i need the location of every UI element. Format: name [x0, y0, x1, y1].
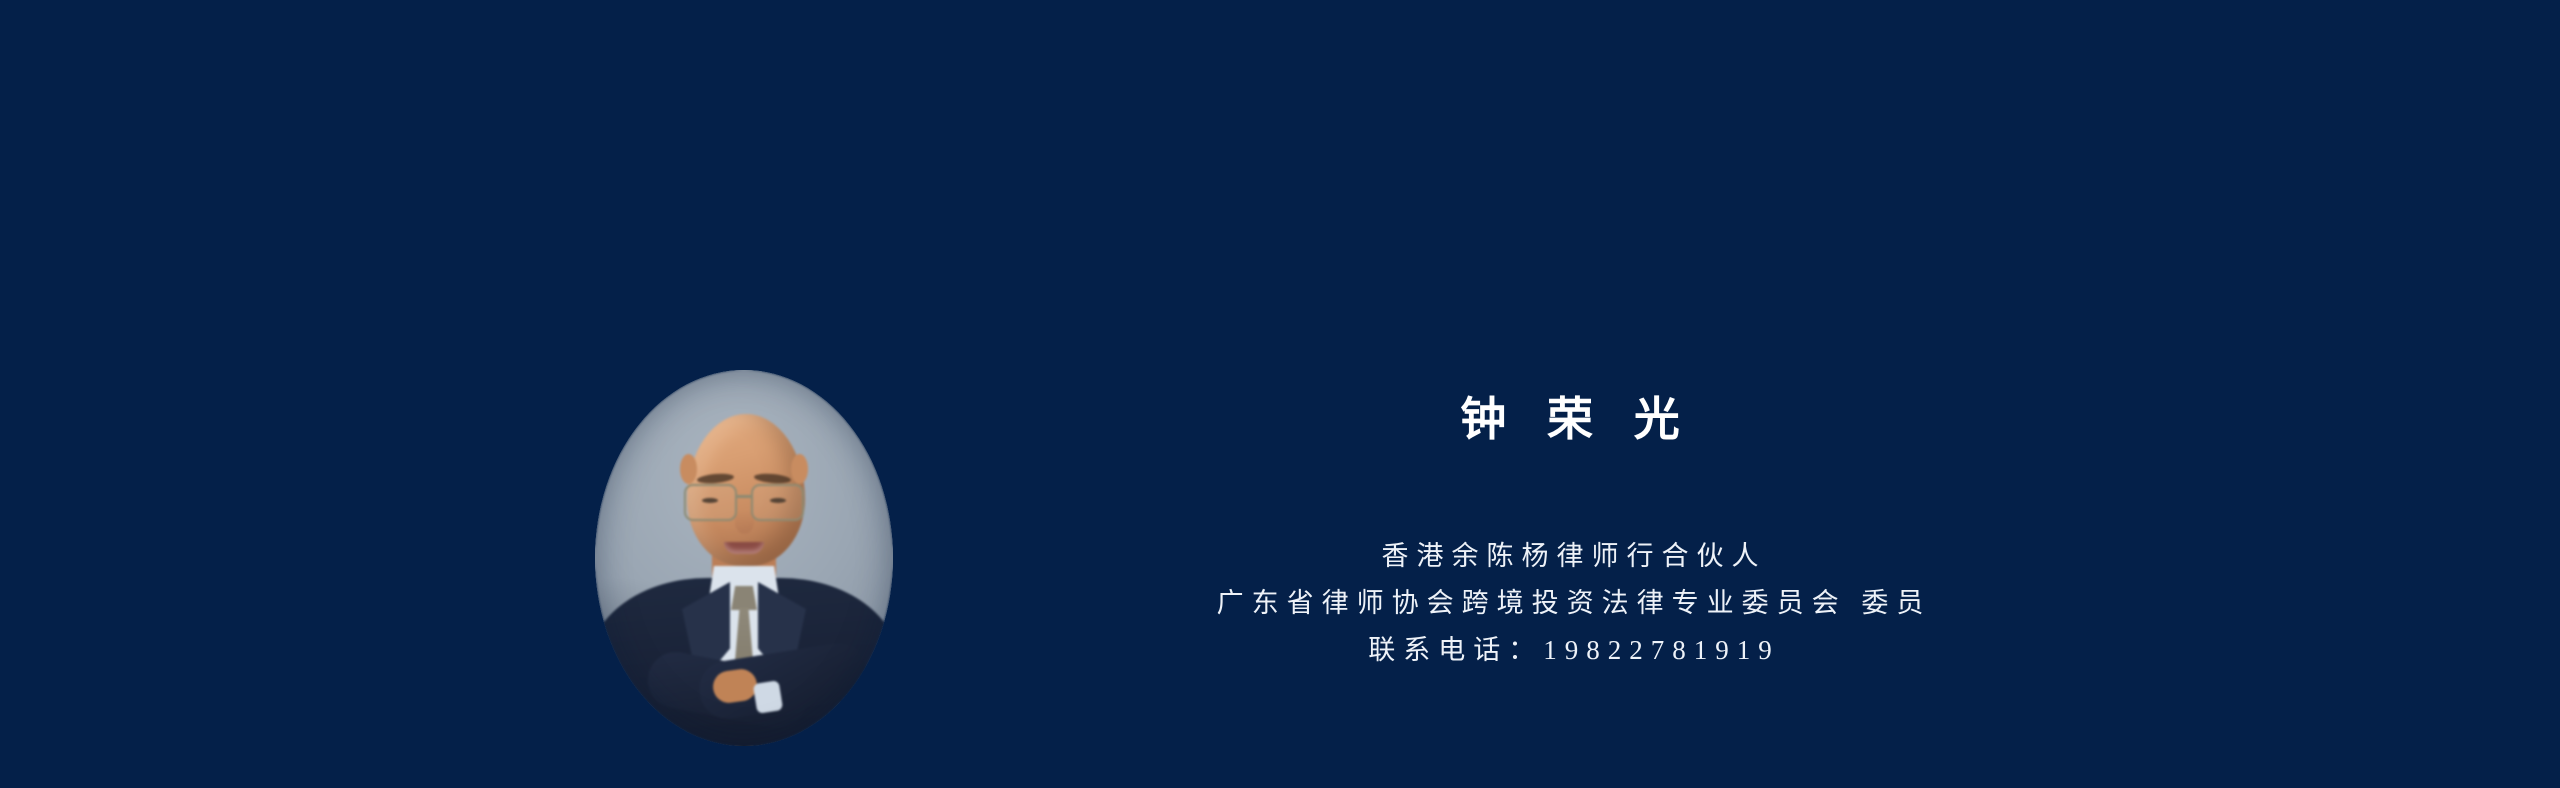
eyeglass-bridge [735, 495, 753, 498]
credential-line-firm: 香港余陈杨律师行合伙人 [1040, 533, 2100, 580]
speaker-credentials: 香港余陈杨律师行合伙人 广东省律师协会跨境投资法律专业委员会 委员 联系电话：1… [1040, 533, 2100, 674]
eyeglass-lens-right [751, 484, 804, 521]
portrait-container [595, 370, 893, 746]
speaker-text-block: 钟 荣 光 香港余陈杨律师行合伙人 广东省律师协会跨境投资法律专业委员会 委员 … [1040, 395, 2100, 674]
shirt-cuff [753, 680, 783, 714]
mouth [724, 542, 764, 554]
eyeglass-lens-left [684, 484, 737, 521]
speaker-name: 钟 荣 光 [1040, 395, 2100, 445]
ear-right [791, 454, 808, 484]
portrait-oval-frame [595, 370, 893, 746]
credential-line-phone: 联系电话：19822781919 [1040, 627, 2100, 674]
necktie-knot [731, 586, 757, 610]
speaker-profile-slide: 钟 荣 光 香港余陈杨律师行合伙人 广东省律师协会跨境投资法律专业委员会 委员 … [0, 0, 2560, 788]
ear-left [680, 454, 697, 484]
nose [735, 510, 754, 534]
credential-line-committee: 广东省律师协会跨境投资法律专业委员会 委员 [1040, 580, 2100, 627]
